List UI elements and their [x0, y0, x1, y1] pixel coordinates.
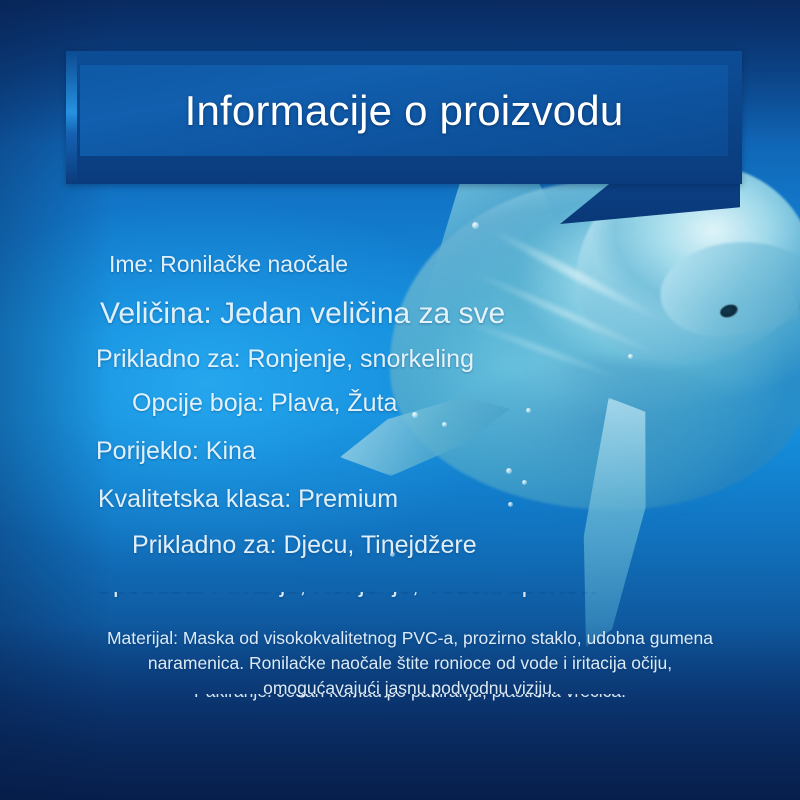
spec-line: Porijeklo: Kina	[96, 438, 256, 464]
banner-left-accent-edge	[66, 51, 77, 184]
spec-line: Prikladno za: Ronjenje, snorkeling	[96, 346, 474, 372]
speech-bubble-tail	[560, 180, 740, 224]
spec-line: Prikladno za: Djecu, Tinejdžere	[132, 532, 477, 558]
clipped-footer-text: Pakiranje: Jedan komad po pakiranju, pla…	[80, 694, 740, 701]
product-description: Materijal: Maska od visokokvalitetnog PV…	[80, 626, 740, 701]
header-banner: Informacije o proizvodu	[66, 51, 742, 184]
description-line: Materijal: Maska od visokokvalitetnog PV…	[80, 626, 740, 651]
product-info-poster: Informacije o proizvodu Ime: Ronilačke n…	[0, 0, 800, 800]
spec-line: Veličina: Jedan veličina za sve	[100, 298, 505, 330]
spec-line: Ime: Ronilačke naočale	[109, 252, 348, 276]
clipped-spec-text: Upotreba: Plivanje, Ronjenje, Vodeni spo…	[95, 592, 755, 599]
spec-line: Kvalitetska klasa: Premium	[98, 486, 398, 512]
description-line: naramenica. Ronilačke naočale štite roni…	[80, 651, 740, 676]
banner-inner-panel: Informacije o proizvodu	[80, 65, 728, 156]
speech-bubble-tail-shape	[560, 180, 740, 224]
spec-line: Opcije boja: Plava, Žuta	[132, 390, 397, 416]
page-title: Informacije o proizvodu	[80, 65, 728, 156]
clipped-footer-line: Pakiranje: Jedan komad po pakiranju, pla…	[80, 694, 740, 701]
clipped-spec-line: Upotreba: Plivanje, Ronjenje, Vodeni spo…	[95, 592, 755, 600]
